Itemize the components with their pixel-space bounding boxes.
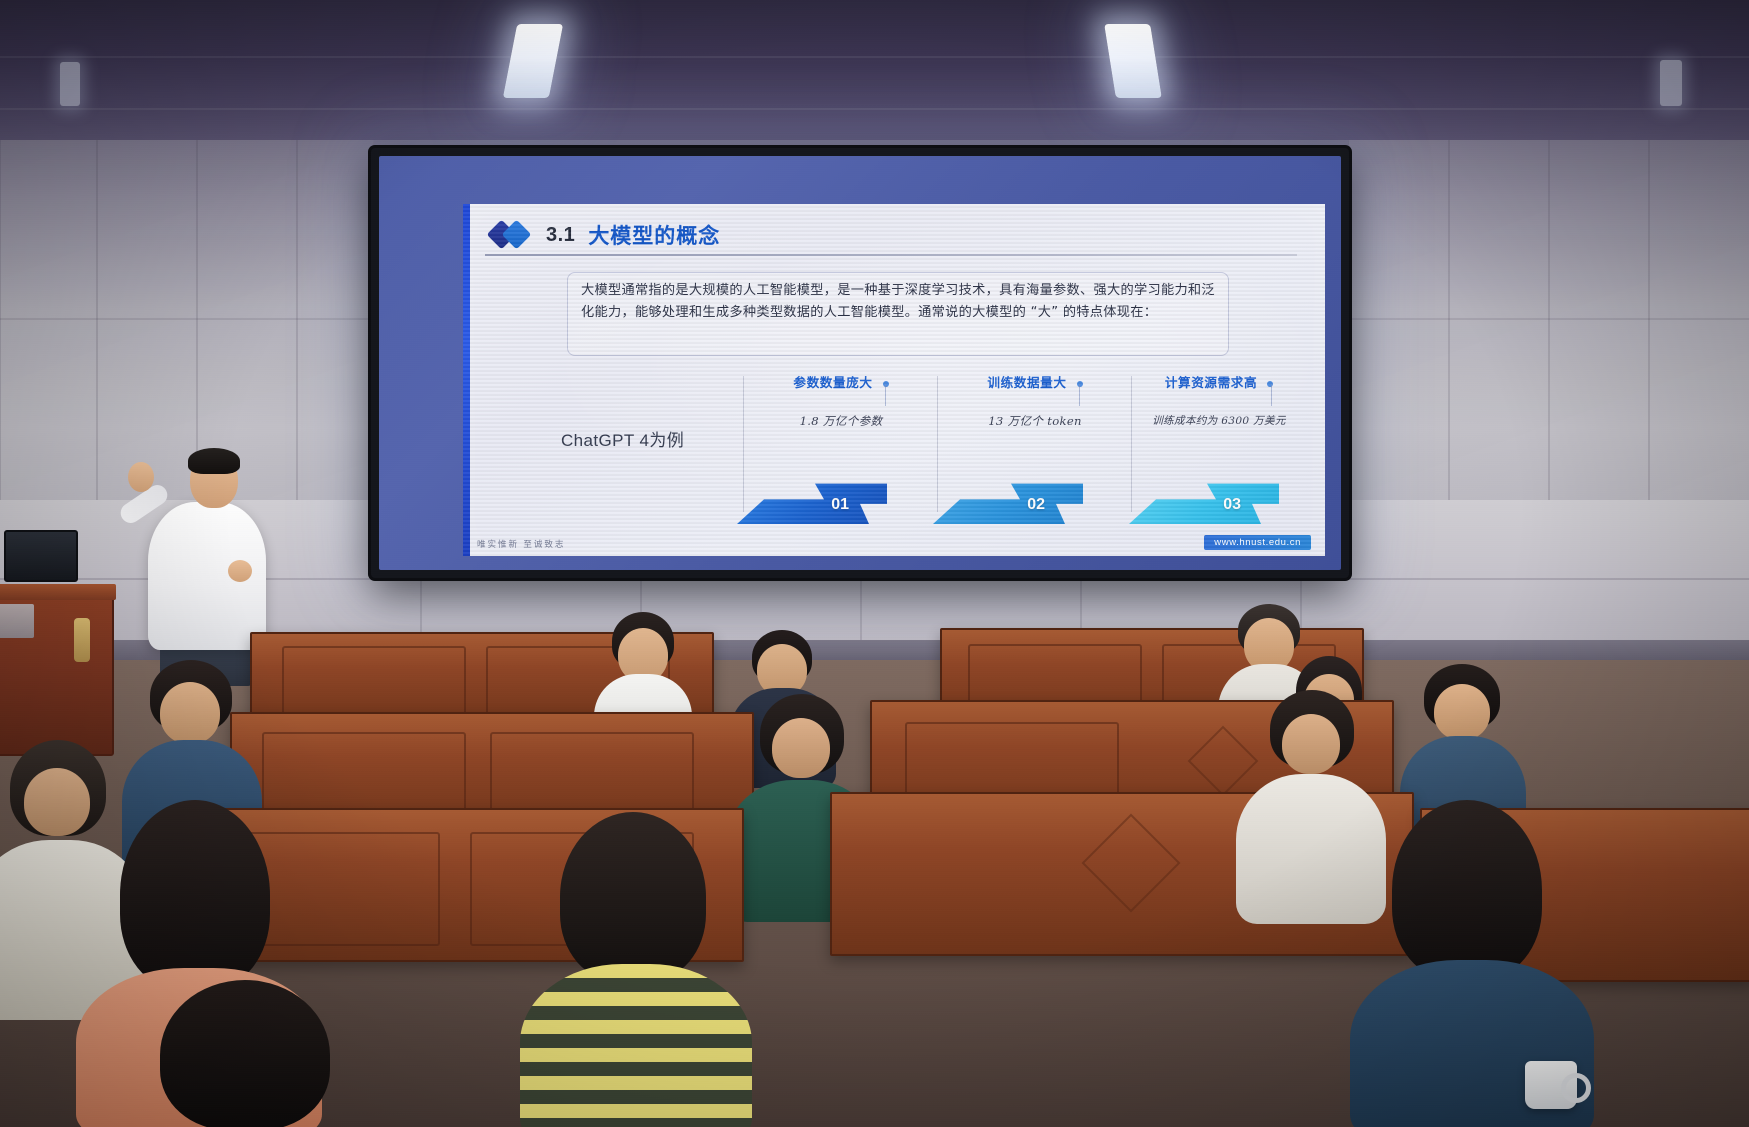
wall-groove xyxy=(1348,318,1749,320)
double-diamond-icon xyxy=(491,222,533,248)
three-column-group: 参数数量庞大 1.8 万亿个参数 训练数据量大 13 万亿个 token xyxy=(485,372,1305,532)
column-stem xyxy=(1271,384,1272,406)
slide-title: 大模型的概念 xyxy=(588,220,720,250)
ceiling-lamp-far-left xyxy=(60,62,80,106)
wall-groove xyxy=(96,122,98,510)
column-heading: 计算资源需求高 xyxy=(1133,372,1305,391)
presenter-hand xyxy=(228,560,252,582)
desktop-monitor xyxy=(4,530,78,582)
column-value: 1.8 万亿个参数 xyxy=(747,413,935,429)
step-arrow-02: 02 xyxy=(933,468,1083,524)
step-arrow-01: 01 xyxy=(737,468,887,524)
lecture-hall-photo: 3.1 大模型的概念 大模型通常指的是大规模的人工智能模型，是一种基于深度学习技… xyxy=(0,0,1749,1127)
column-parameters: 参数数量庞大 1.8 万亿个参数 xyxy=(747,372,935,429)
ceiling xyxy=(0,0,1749,140)
presenter-raised-hand xyxy=(128,462,154,492)
slide-footer-url[interactable]: www.hnust.edu.cn xyxy=(1204,535,1311,550)
ceiling-seam xyxy=(0,108,1749,110)
water-bottle xyxy=(74,618,90,662)
step-arrow-03: 03 xyxy=(1129,468,1279,524)
column-stem xyxy=(885,384,886,406)
section-number: 3.1 xyxy=(546,224,575,247)
column-divider xyxy=(937,376,938,512)
example-label: ChatGPT 4为例 xyxy=(561,426,684,451)
step-number: 01 xyxy=(831,496,849,514)
wall-groove xyxy=(1548,122,1550,510)
title-underline xyxy=(485,254,1297,256)
lectern-top xyxy=(0,584,116,600)
step-number: 02 xyxy=(1027,496,1045,514)
column-value: 训练成本约为 6300 万美元 xyxy=(1133,413,1305,428)
slide-paragraph: 大模型通常指的是大规模的人工智能模型，是一种基于深度学习技术，具有海量参数、强大… xyxy=(581,280,1221,324)
lectern-plaque xyxy=(0,604,34,638)
wall-groove xyxy=(0,318,372,320)
wall-groove xyxy=(296,122,298,510)
slide-accent-bar xyxy=(463,204,470,556)
slide-footer-motto: 唯实惟新 至诚致志 xyxy=(477,538,565,550)
column-heading: 参数数量庞大 xyxy=(747,372,935,391)
ceiling-lamp-far-right xyxy=(1660,60,1682,106)
slide-content: 3.1 大模型的概念 大模型通常指的是大规模的人工智能模型，是一种基于深度学习技… xyxy=(463,204,1325,556)
column-training-data: 训练数据量大 13 万亿个 token xyxy=(941,372,1129,429)
column-divider xyxy=(1131,376,1132,512)
desk-panel xyxy=(282,646,466,720)
column-stem xyxy=(1079,384,1080,406)
wall-panel xyxy=(0,120,374,514)
step-number: 03 xyxy=(1223,496,1241,514)
wall-groove xyxy=(1448,122,1450,510)
column-value: 13 万亿个 token xyxy=(941,413,1129,429)
slide-header: 3.1 大模型的概念 xyxy=(491,220,720,250)
coffee-mug xyxy=(1525,1061,1577,1109)
wall-groove xyxy=(1648,122,1650,510)
presentation-screen[interactable]: 3.1 大模型的概念 大模型通常指的是大规模的人工智能模型，是一种基于深度学习技… xyxy=(371,148,1349,578)
column-divider xyxy=(743,376,744,512)
column-heading: 训练数据量大 xyxy=(941,372,1129,391)
presenter-hair xyxy=(188,448,240,474)
screen-surface: 3.1 大模型的概念 大模型通常指的是大规模的人工智能模型，是一种基于深度学习技… xyxy=(379,156,1341,570)
column-compute-cost: 计算资源需求高 训练成本约为 6300 万美元 xyxy=(1133,372,1305,428)
ceiling-seam xyxy=(0,56,1749,58)
